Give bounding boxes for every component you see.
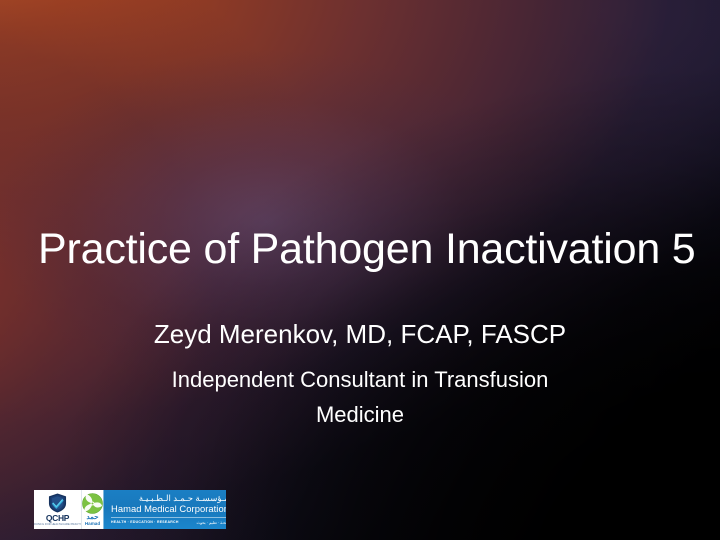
presenter-role-line-1: Independent Consultant in Transfusion — [60, 363, 660, 398]
organization-english-name: Hamad Medical Corporation — [111, 504, 226, 515]
organization-name-block: مـؤسسـة حـمـد الـطـبـيـة Hamad Medical C… — [103, 490, 226, 529]
qchp-acronym: QCHP — [46, 514, 69, 523]
slide-title: Practice of Pathogen Inactivation 5 — [38, 226, 698, 272]
organization-tagline: HEALTH · EDUCATION · RESEARCH صحـة · تعل… — [111, 517, 226, 525]
hamad-mark-english: Hamad — [85, 522, 100, 527]
hmc-qchp-logo-banner: QCHP QATAR COUNCIL FOR HEALTHCARE PRACTI… — [34, 490, 226, 529]
qchp-logo-block: QCHP QATAR COUNCIL FOR HEALTHCARE PRACTI… — [34, 490, 81, 529]
hamad-mark-arabic: حمد — [86, 514, 98, 521]
slide-subtitle-block: Zeyd Merenkov, MD, FCAP, FASCP Independe… — [60, 318, 660, 433]
tagline-english: HEALTH · EDUCATION · RESEARCH — [111, 520, 179, 524]
tagline-arabic: صحـة · تعليم · بحوث — [197, 520, 226, 525]
hamad-leaf-icon — [82, 493, 103, 514]
presentation-slide: Practice of Pathogen Inactivation 5 Zeyd… — [0, 0, 720, 540]
hamad-mark-block: حمد Hamad — [81, 490, 103, 529]
presenter-role-line-2: Medicine — [60, 398, 660, 433]
presenter-name: Zeyd Merenkov, MD, FCAP, FASCP — [60, 318, 660, 351]
qchp-shield-icon — [48, 493, 67, 513]
